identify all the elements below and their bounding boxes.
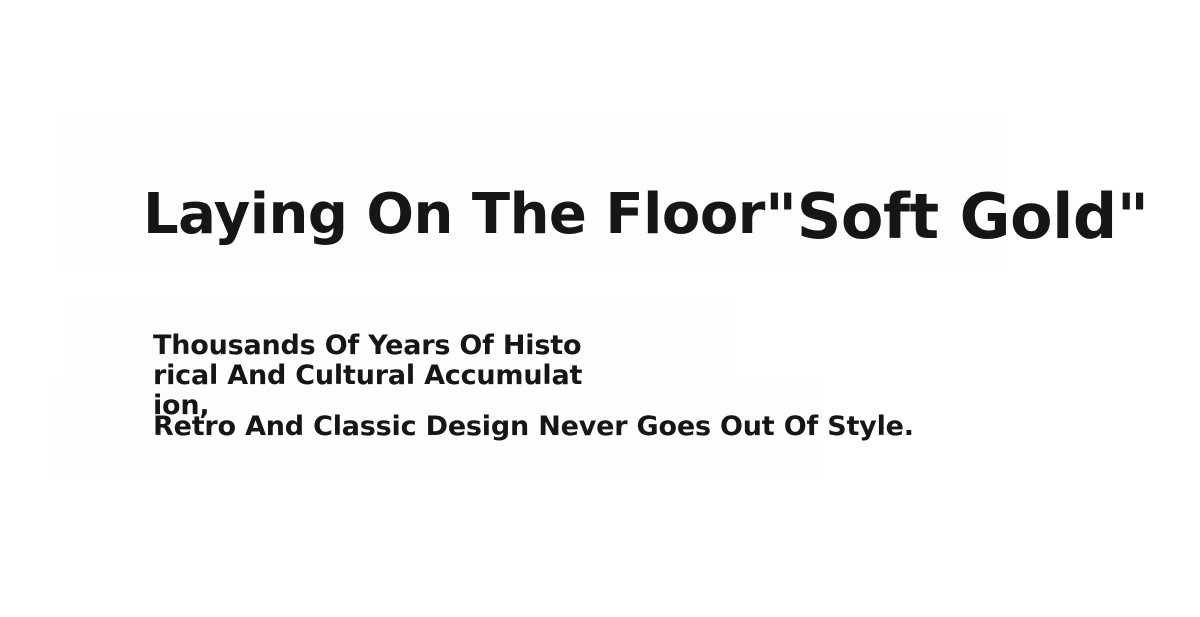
body-paragraph: Thousands Of Years Of Historical And Cul… <box>153 331 587 421</box>
page-title: Laying On The Floor"Soft Gold" <box>143 181 1149 243</box>
page-title-main: Laying On The Floor <box>143 182 765 247</box>
body-tagline: Retro And Classic Design Never Goes Out … <box>153 410 914 443</box>
page-title-accent: "Soft Gold" <box>765 180 1149 253</box>
